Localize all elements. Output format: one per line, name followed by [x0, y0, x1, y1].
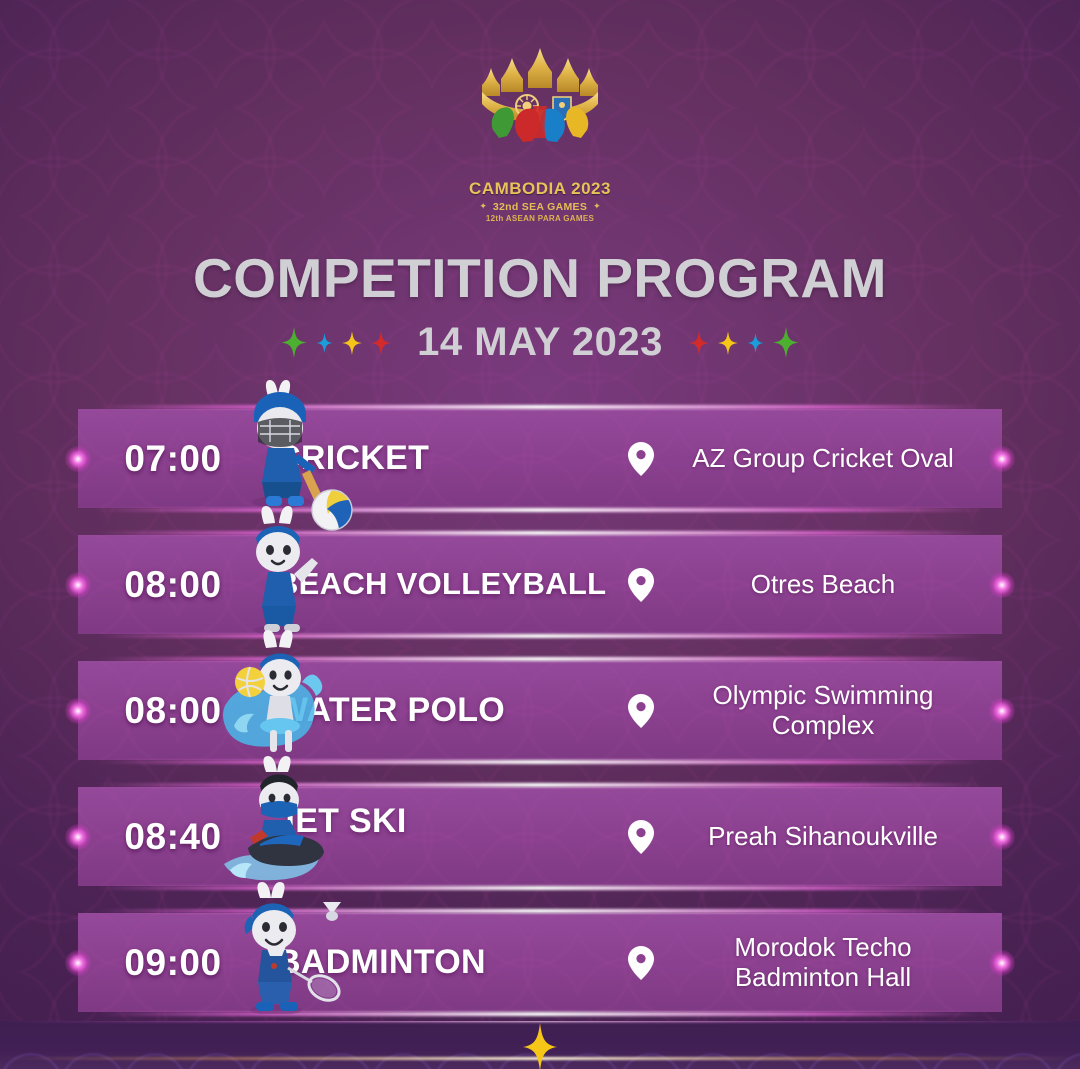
venue-line-2: Complex — [666, 711, 980, 741]
volleyball-icon — [310, 488, 354, 532]
schedule-list: 07:00CRICKETAZ Group Cricket Oval08:00BE… — [0, 409, 1080, 1012]
schedule-row[interactable]: 09:00BADMINTONMorodok TechoBadminton Hal… — [78, 913, 1002, 1012]
date-row: 14 MAY 2023 — [0, 320, 1080, 365]
logo-sub-row-1: ✦ 32nd SEA GAMES ✦ — [455, 199, 625, 213]
venue-block: Otres Beach — [628, 568, 1002, 602]
venue-name: AZ Group Cricket Oval — [666, 444, 980, 474]
location-pin-icon — [628, 442, 654, 476]
logo-spark-right-icon: ✦ — [593, 202, 601, 211]
row-content: 08:40JET SKIMxPreah Sihanoukville — [78, 787, 1002, 886]
sport-block: WATER POLO — [268, 693, 628, 729]
row-content: 07:00CRICKETAZ Group Cricket Oval — [78, 409, 1002, 508]
sport-name: BEACH VOLLEYBALL — [276, 568, 628, 601]
event-time: 08:40 — [78, 816, 268, 858]
venue-line-1: Otres Beach — [751, 569, 896, 599]
footer-star-icon — [523, 1023, 557, 1069]
decor-star-right-0 — [689, 331, 709, 355]
program-date: 14 MAY 2023 — [401, 320, 679, 365]
decor-star-left-0 — [281, 327, 307, 358]
event-time: 08:00 — [78, 690, 268, 732]
decor-star-right-1 — [718, 331, 738, 355]
logo-main-text: CAMBODIA 2023 — [455, 179, 625, 199]
row-content: 08:00BEACH VOLLEYBALLOtres Beach — [78, 535, 1002, 634]
competition-program-poster: CAMBODIA 2023 ✦ 32nd SEA GAMES ✦ 12th AS… — [0, 0, 1080, 1069]
venue-block: Morodok TechoBadminton Hall — [628, 933, 1002, 993]
event-time: 07:00 — [78, 438, 268, 480]
sport-block: CRICKET — [268, 441, 628, 477]
decor-star-right-2 — [747, 333, 764, 353]
poster-header: CAMBODIA 2023 ✦ 32nd SEA GAMES ✦ 12th AS… — [0, 0, 1080, 365]
decor-star-left-2 — [342, 331, 362, 355]
event-time: 08:00 — [78, 564, 268, 606]
sport-block: JET SKIMx — [268, 804, 628, 870]
venue-line-2: Badminton Hall — [666, 963, 980, 993]
venue-block: Olympic SwimmingComplex — [628, 681, 1002, 741]
venue-block: Preah Sihanoukville — [628, 820, 1002, 854]
row-bottom-glow — [96, 760, 983, 764]
footer-top-glow — [0, 1021, 1080, 1022]
schedule-row[interactable]: 07:00CRICKETAZ Group Cricket Oval — [78, 409, 1002, 508]
row-bottom-glow — [96, 634, 983, 638]
schedule-row[interactable]: 08:00WATER POLOOlympic SwimmingComplex — [78, 661, 1002, 760]
sport-name: JET SKI — [276, 804, 628, 840]
row-content: 09:00BADMINTONMorodok TechoBadminton Hal… — [78, 913, 1002, 1012]
logo-sub-text-1: 32nd SEA GAMES — [493, 201, 587, 213]
sport-block: BEACH VOLLEYBALL — [268, 568, 628, 601]
venue-line-1: Morodok Techo — [734, 932, 911, 962]
row-bottom-glow — [96, 508, 983, 512]
sport-name: BADMINTON — [276, 945, 628, 981]
sport-subtitle: Mx — [276, 843, 628, 869]
venue-name: Morodok TechoBadminton Hall — [666, 933, 980, 993]
location-pin-icon — [628, 946, 654, 980]
row-bottom-glow — [96, 886, 983, 890]
venue-block: AZ Group Cricket Oval — [628, 442, 1002, 476]
page-title: COMPETITION PROGRAM — [0, 251, 1080, 306]
venue-line-1: Olympic Swimming — [712, 680, 933, 710]
sport-name: CRICKET — [276, 441, 628, 477]
schedule-row[interactable]: 08:40JET SKIMxPreah Sihanoukville — [78, 787, 1002, 886]
venue-name: Olympic SwimmingComplex — [666, 681, 980, 741]
location-pin-icon — [628, 820, 654, 854]
stars-left — [281, 327, 391, 358]
sport-name: WATER POLO — [276, 693, 628, 729]
sport-block: BADMINTON — [268, 945, 628, 981]
stars-right — [689, 327, 799, 358]
location-pin-icon — [628, 568, 654, 602]
row-content: 08:00WATER POLOOlympic SwimmingComplex — [78, 661, 1002, 760]
venue-name: Preah Sihanoukville — [666, 822, 980, 852]
venue-line-1: Preah Sihanoukville — [708, 821, 938, 851]
venue-line-1: AZ Group Cricket Oval — [692, 443, 954, 473]
sea-games-logo: CAMBODIA 2023 ✦ 32nd SEA GAMES ✦ 12th AS… — [455, 42, 625, 223]
event-time: 09:00 — [78, 942, 268, 984]
logo-emblem-icon — [455, 42, 625, 172]
logo-spark-left-icon: ✦ — [479, 202, 487, 211]
row-bottom-glow — [96, 1012, 983, 1016]
decor-star-left-3 — [371, 331, 391, 355]
logo-sub-text-2: 12th ASEAN PARA GAMES — [455, 214, 625, 223]
footer-strip — [0, 1021, 1080, 1069]
decor-star-left-1 — [316, 333, 333, 353]
location-pin-icon — [628, 694, 654, 728]
schedule-row[interactable]: 08:00BEACH VOLLEYBALLOtres Beach — [78, 535, 1002, 634]
decor-star-right-3 — [773, 327, 799, 358]
venue-name: Otres Beach — [666, 570, 980, 600]
